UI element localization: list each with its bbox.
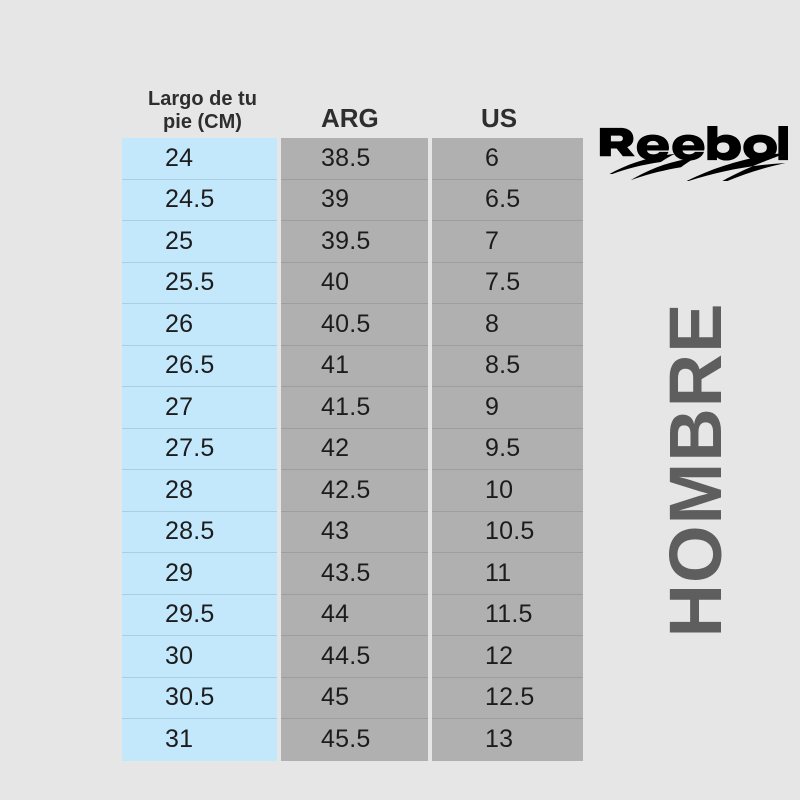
table-cell-cm: 24: [122, 138, 277, 180]
column-header-cm-line2: pie (CM): [128, 111, 277, 133]
table-cell-cm: 31: [122, 719, 277, 761]
table-cell-arg: 41: [281, 346, 428, 388]
table-cell-cm: 24.5: [122, 180, 277, 222]
category-label-hombre: HOMBRE: [659, 303, 733, 638]
table-cell-us: 8: [432, 304, 583, 346]
table-cell-us: 7: [432, 221, 583, 263]
reebok-logo-icon: [596, 126, 788, 181]
table-cell-us: 11: [432, 553, 583, 595]
table-cell-us: 12.5: [432, 678, 583, 720]
table-cell-cm: 27.5: [122, 429, 277, 471]
table-column-cm: 2424.52525.52626.52727.52828.52929.53030…: [122, 138, 277, 761]
table-cell-arg: 40.5: [281, 304, 428, 346]
column-header-cm: Largo de tu pie (CM): [122, 88, 277, 138]
table-column-arg: 38.53939.54040.54141.54242.54343.54444.5…: [281, 138, 428, 761]
table-cell-us: 13: [432, 719, 583, 761]
table-cell-cm: 30.5: [122, 678, 277, 720]
table-cell-arg: 45: [281, 678, 428, 720]
table-cell-arg: 44.5: [281, 636, 428, 678]
table-cell-cm: 27: [122, 387, 277, 429]
table-cell-us: 8.5: [432, 346, 583, 388]
table-cell-cm: 26.5: [122, 346, 277, 388]
table-cell-us: 6.5: [432, 180, 583, 222]
table-cell-arg: 39: [281, 180, 428, 222]
table-cell-us: 6: [432, 138, 583, 180]
table-cell-cm: 28.5: [122, 512, 277, 554]
column-header-arg: ARG: [281, 104, 428, 138]
table-cell-arg: 40: [281, 263, 428, 305]
size-chart-canvas: Largo de tu pie (CM) ARG US 2424.52525.5…: [0, 0, 800, 800]
table-cell-us: 9: [432, 387, 583, 429]
table-cell-us: 10.5: [432, 512, 583, 554]
table-body: 2424.52525.52626.52727.52828.52929.53030…: [122, 138, 583, 761]
column-header-us: US: [428, 104, 579, 138]
table-cell-cm: 25.5: [122, 263, 277, 305]
table-cell-arg: 38.5: [281, 138, 428, 180]
size-table: Largo de tu pie (CM) ARG US 2424.52525.5…: [122, 78, 583, 761]
table-header-row: Largo de tu pie (CM) ARG US: [122, 78, 583, 138]
table-cell-us: 9.5: [432, 429, 583, 471]
table-cell-cm: 28: [122, 470, 277, 512]
table-column-us: 66.577.588.599.51010.51111.51212.513: [432, 138, 583, 761]
brand-area: [596, 126, 792, 181]
table-cell-arg: 45.5: [281, 719, 428, 761]
table-cell-arg: 42: [281, 429, 428, 471]
table-cell-cm: 29: [122, 553, 277, 595]
table-cell-us: 12: [432, 636, 583, 678]
category-label-wrap: HOMBRE: [596, 240, 796, 700]
table-cell-cm: 25: [122, 221, 277, 263]
table-cell-arg: 42.5: [281, 470, 428, 512]
table-cell-cm: 29.5: [122, 595, 277, 637]
table-cell-us: 11.5: [432, 595, 583, 637]
table-cell-us: 7.5: [432, 263, 583, 305]
table-cell-cm: 26: [122, 304, 277, 346]
table-cell-us: 10: [432, 470, 583, 512]
table-cell-cm: 30: [122, 636, 277, 678]
column-header-cm-line1: Largo de tu: [128, 88, 277, 110]
table-cell-arg: 39.5: [281, 221, 428, 263]
table-cell-arg: 41.5: [281, 387, 428, 429]
table-cell-arg: 43.5: [281, 553, 428, 595]
table-cell-arg: 44: [281, 595, 428, 637]
table-cell-arg: 43: [281, 512, 428, 554]
